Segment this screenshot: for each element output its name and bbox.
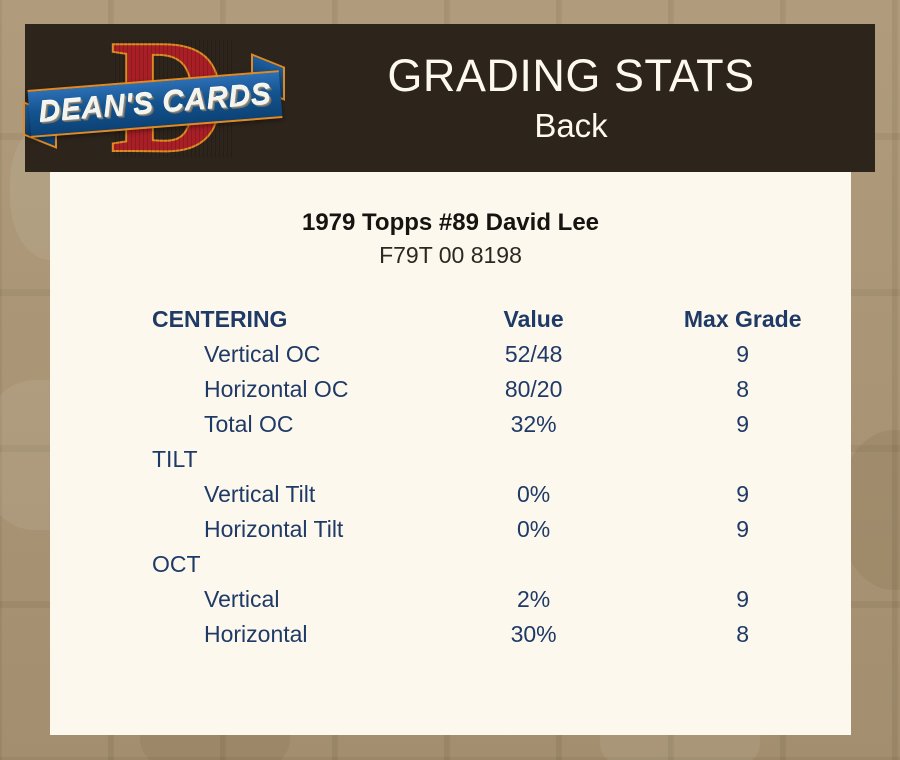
- stats-cell-label: Horizontal: [50, 617, 433, 652]
- stats-cell-grade: 9: [634, 337, 851, 372]
- stats-cell-label: Horizontal OC: [50, 372, 433, 407]
- stats-cell-value: 0%: [433, 477, 635, 512]
- card-serial: F79T 00 8198: [50, 240, 851, 270]
- stats-cell-grade: 8: [634, 617, 851, 652]
- deans-cards-logo[interactable]: D DEAN'S CARDS: [25, 24, 287, 172]
- stats-cell-value: 80/20: [433, 372, 635, 407]
- grading-stats-table: CENTERING Value Max Grade Vertical OC52/…: [50, 302, 851, 652]
- stats-data-row: Horizontal30%8: [50, 617, 851, 652]
- stats-cell-grade: 9: [634, 407, 851, 442]
- stats-data-row: Vertical Tilt0%9: [50, 477, 851, 512]
- content-panel: 1979 Topps #89 David Lee F79T 00 8198 CE…: [50, 172, 851, 735]
- stats-section-row: OCT: [50, 547, 851, 582]
- stats-data-row: Horizontal Tilt0%9: [50, 512, 851, 547]
- stats-cell-label: OCT: [50, 547, 433, 582]
- card-title: 1979 Topps #89 David Lee: [50, 208, 851, 238]
- stats-cell-value: [433, 547, 635, 582]
- column-header-max-grade: Max Grade: [634, 302, 851, 337]
- stats-cell-label: Vertical Tilt: [50, 477, 433, 512]
- stats-cell-grade: 9: [634, 477, 851, 512]
- stats-data-row: Horizontal OC80/208: [50, 372, 851, 407]
- stats-cell-grade: [634, 547, 851, 582]
- stats-data-row: Vertical2%9: [50, 582, 851, 617]
- stats-table-body: Vertical OC52/489Horizontal OC80/208Tota…: [50, 337, 851, 652]
- stats-cell-label: Horizontal Tilt: [50, 512, 433, 547]
- column-header-centering: CENTERING: [50, 302, 433, 337]
- stats-section-row: TILT: [50, 442, 851, 477]
- stats-cell-label: Vertical: [50, 582, 433, 617]
- page-title: GRADING STATS: [287, 49, 855, 103]
- stats-cell-grade: 9: [634, 512, 851, 547]
- page-subtitle: Back: [287, 105, 855, 147]
- stats-cell-value: 32%: [433, 407, 635, 442]
- stats-table-head: CENTERING Value Max Grade: [50, 302, 851, 337]
- stats-cell-value: [433, 442, 635, 477]
- stats-cell-label: Total OC: [50, 407, 433, 442]
- stats-data-row: Total OC32%9: [50, 407, 851, 442]
- stats-cell-value: 52/48: [433, 337, 635, 372]
- header-title-group: GRADING STATS Back: [287, 49, 875, 147]
- stats-cell-value: 2%: [433, 582, 635, 617]
- stats-data-row: Vertical OC52/489: [50, 337, 851, 372]
- stats-cell-value: 30%: [433, 617, 635, 652]
- stats-cell-grade: 8: [634, 372, 851, 407]
- logo-ribbon: DEAN'S CARDS: [28, 70, 283, 138]
- app-header: D DEAN'S CARDS GRADING STATS Back: [25, 24, 875, 172]
- stats-cell-label: TILT: [50, 442, 433, 477]
- column-header-value: Value: [433, 302, 635, 337]
- stats-cell-label: Vertical OC: [50, 337, 433, 372]
- stats-cell-grade: 9: [634, 582, 851, 617]
- stats-cell-grade: [634, 442, 851, 477]
- stats-cell-value: 0%: [433, 512, 635, 547]
- stats-table-header-row: CENTERING Value Max Grade: [50, 302, 851, 337]
